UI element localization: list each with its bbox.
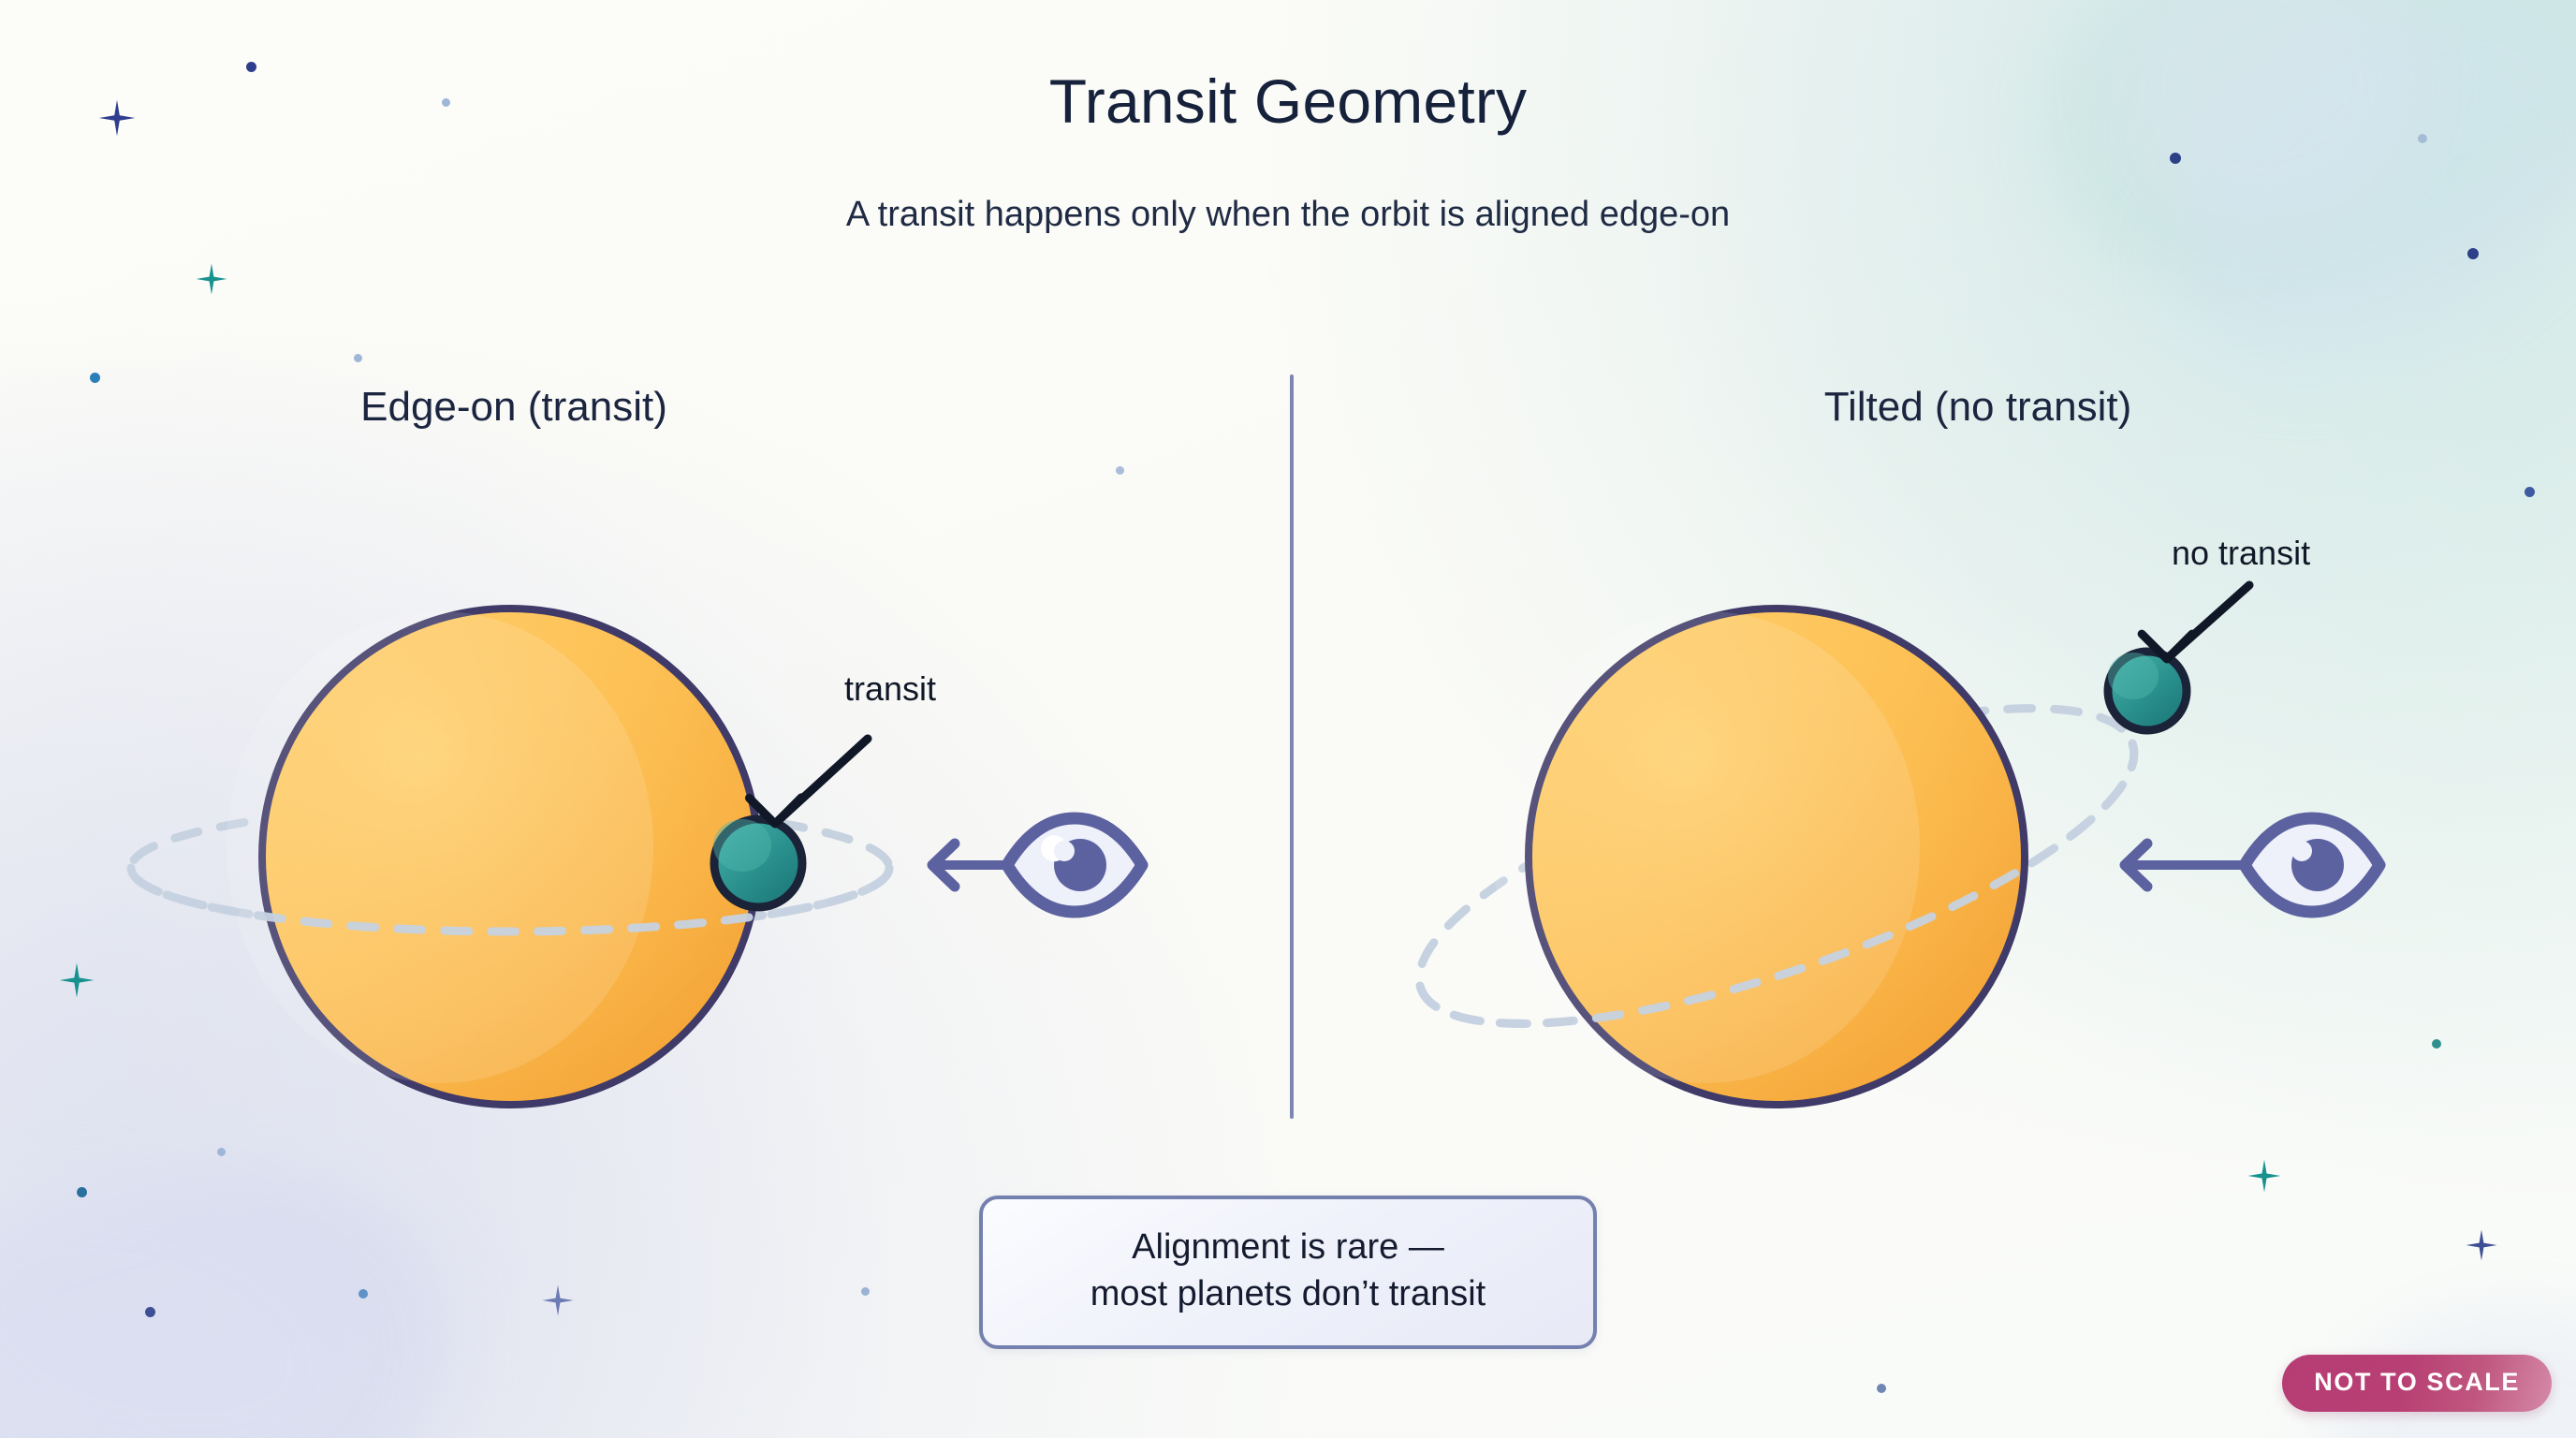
caption-line-1: Alignment is rare — (1002, 1224, 1574, 1270)
host-star-terminator (1493, 611, 1920, 1083)
caption-line-2: most planets don’t transit (1002, 1270, 1574, 1317)
eye-icon (2245, 818, 2379, 912)
caption-box: Alignment is rare — most planets don’t t… (979, 1196, 1597, 1349)
eye-icon (1007, 818, 1142, 912)
not-to-scale-badge: NOT TO SCALE (2282, 1355, 2552, 1412)
callout-label-no-transit: no transit (2172, 534, 2310, 573)
callout-label-transit: transit (844, 669, 936, 709)
host-star-terminator (227, 611, 653, 1083)
planet-highlight (713, 819, 771, 872)
transit-geometry-figure: Transit Geometry A transit happens only … (0, 0, 2576, 1438)
planet-highlight (2108, 653, 2159, 699)
